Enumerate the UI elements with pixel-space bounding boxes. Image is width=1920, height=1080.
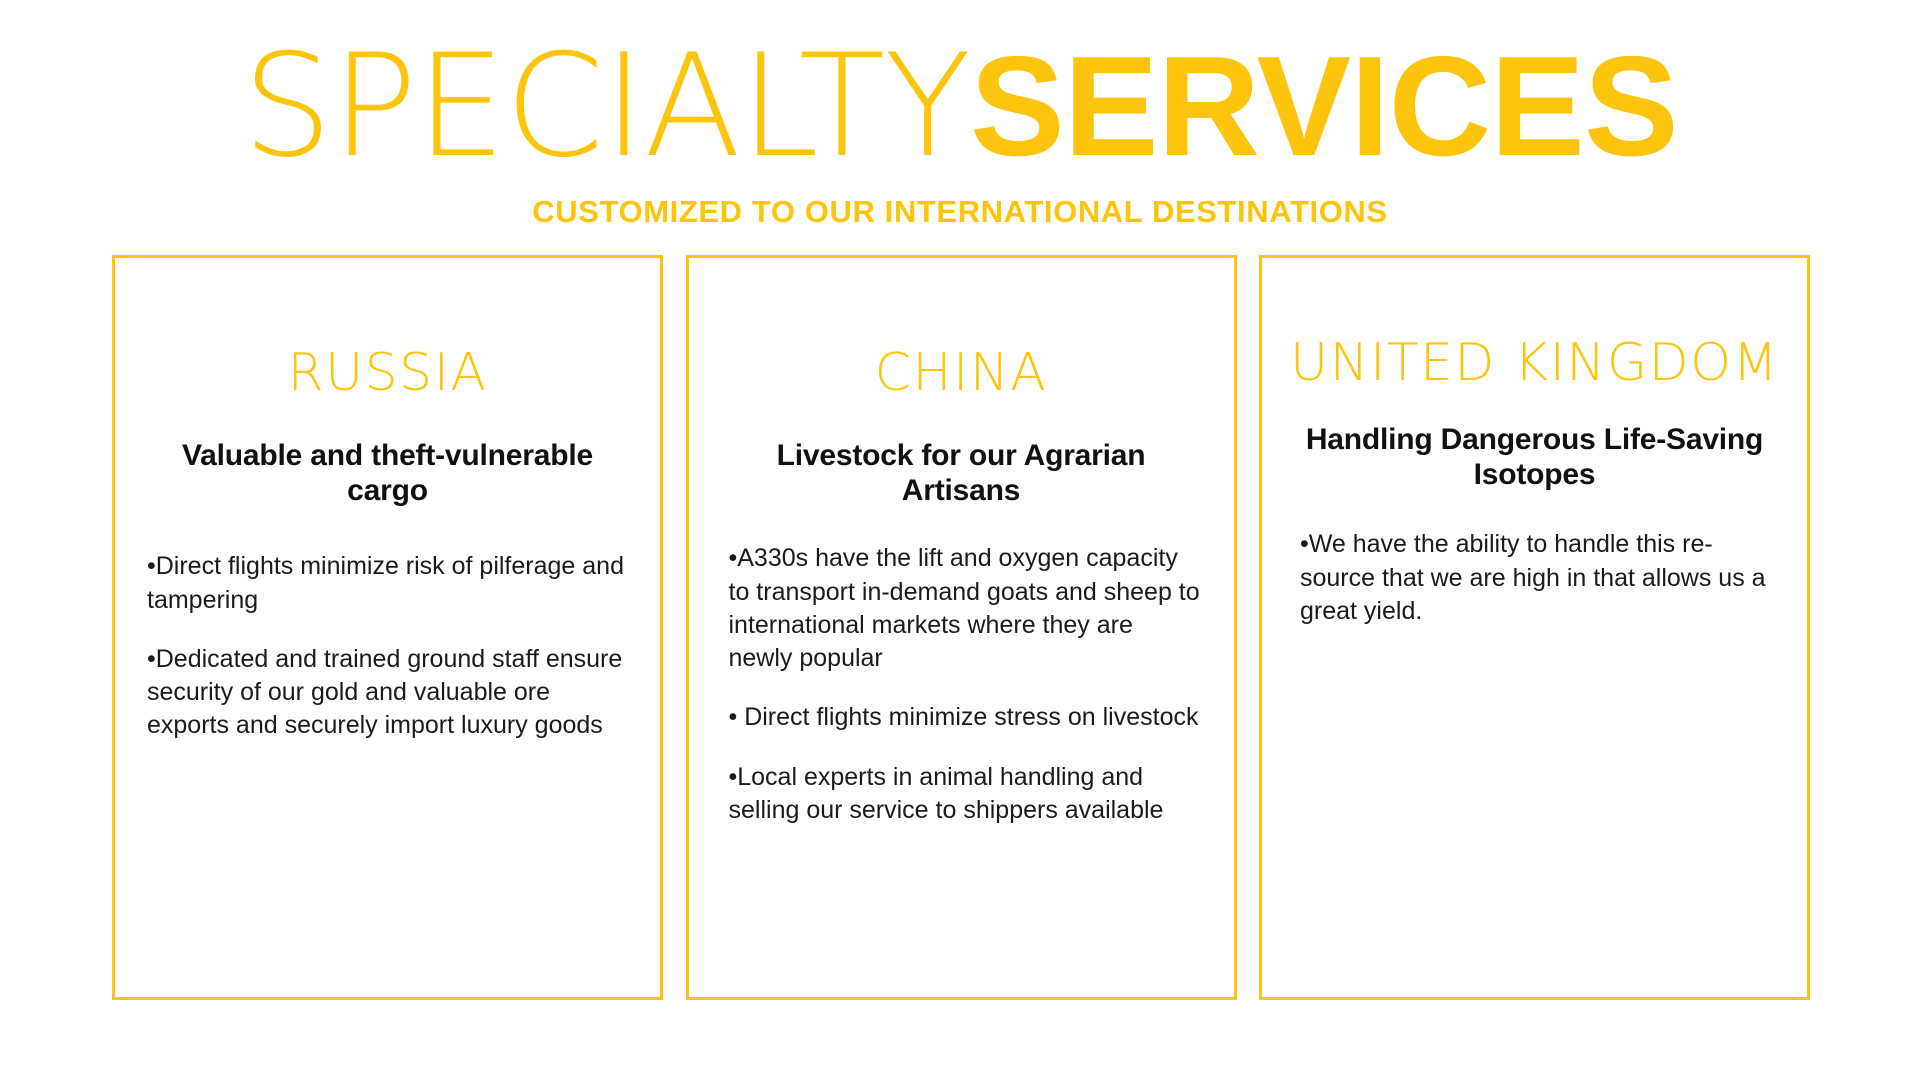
card-headline-china: Livestock for our Agrarian Artisans (715, 438, 1208, 509)
page-title-light: SPECIALTY (242, 24, 970, 189)
service-card-russia: RUSSIA Valuable and theft-vulnerable car… (112, 255, 663, 1000)
card-bullets-united-kingdom: •We have the ability to handle this re-s… (1288, 528, 1781, 628)
page-subtitle: CUSTOMIZED TO OUR INTERNATIONAL DESTINAT… (0, 194, 1920, 230)
page-header: SPECIALTYSERVICES CUSTOMIZED TO OUR INTE… (0, 0, 1920, 230)
list-item: •A330s have the lift and oxygen capacity… (729, 542, 1202, 675)
service-card-china: CHINA Livestock for our Agrarian Artisan… (686, 255, 1237, 1000)
card-bullets-russia: •Direct flights minimize risk of pilfera… (141, 550, 634, 742)
card-headline-united-kingdom: Handling Dangerous Life-Saving Isotopes (1288, 422, 1781, 493)
page-title: SPECIALTYSERVICES (0, 36, 1920, 178)
service-card-row: RUSSIA Valuable and theft-vulnerable car… (112, 255, 1810, 1000)
card-bullets-china: •A330s have the lift and oxygen capacity… (715, 542, 1208, 827)
service-card-united-kingdom: UNITED KINGDOM Handling Dangerous Life-S… (1259, 255, 1810, 1000)
card-country-china: CHINA (715, 346, 1208, 402)
card-headline-russia: Valuable and theft-vulnerable cargo (141, 438, 634, 509)
list-item: • Direct flights minimize stress on live… (729, 701, 1202, 734)
list-item: •Local experts in animal handling and se… (729, 761, 1202, 828)
card-country-united-kingdom: UNITED KINGDOM (1288, 336, 1781, 392)
list-item: •We have the ability to handle this re-s… (1300, 528, 1775, 628)
list-item: •Dedicated and trained ground staff ensu… (147, 643, 628, 743)
card-country-russia: RUSSIA (141, 346, 634, 402)
list-item: •Direct flights minimize risk of pilfera… (147, 550, 628, 617)
page-title-bold: SERVICES (970, 27, 1678, 186)
